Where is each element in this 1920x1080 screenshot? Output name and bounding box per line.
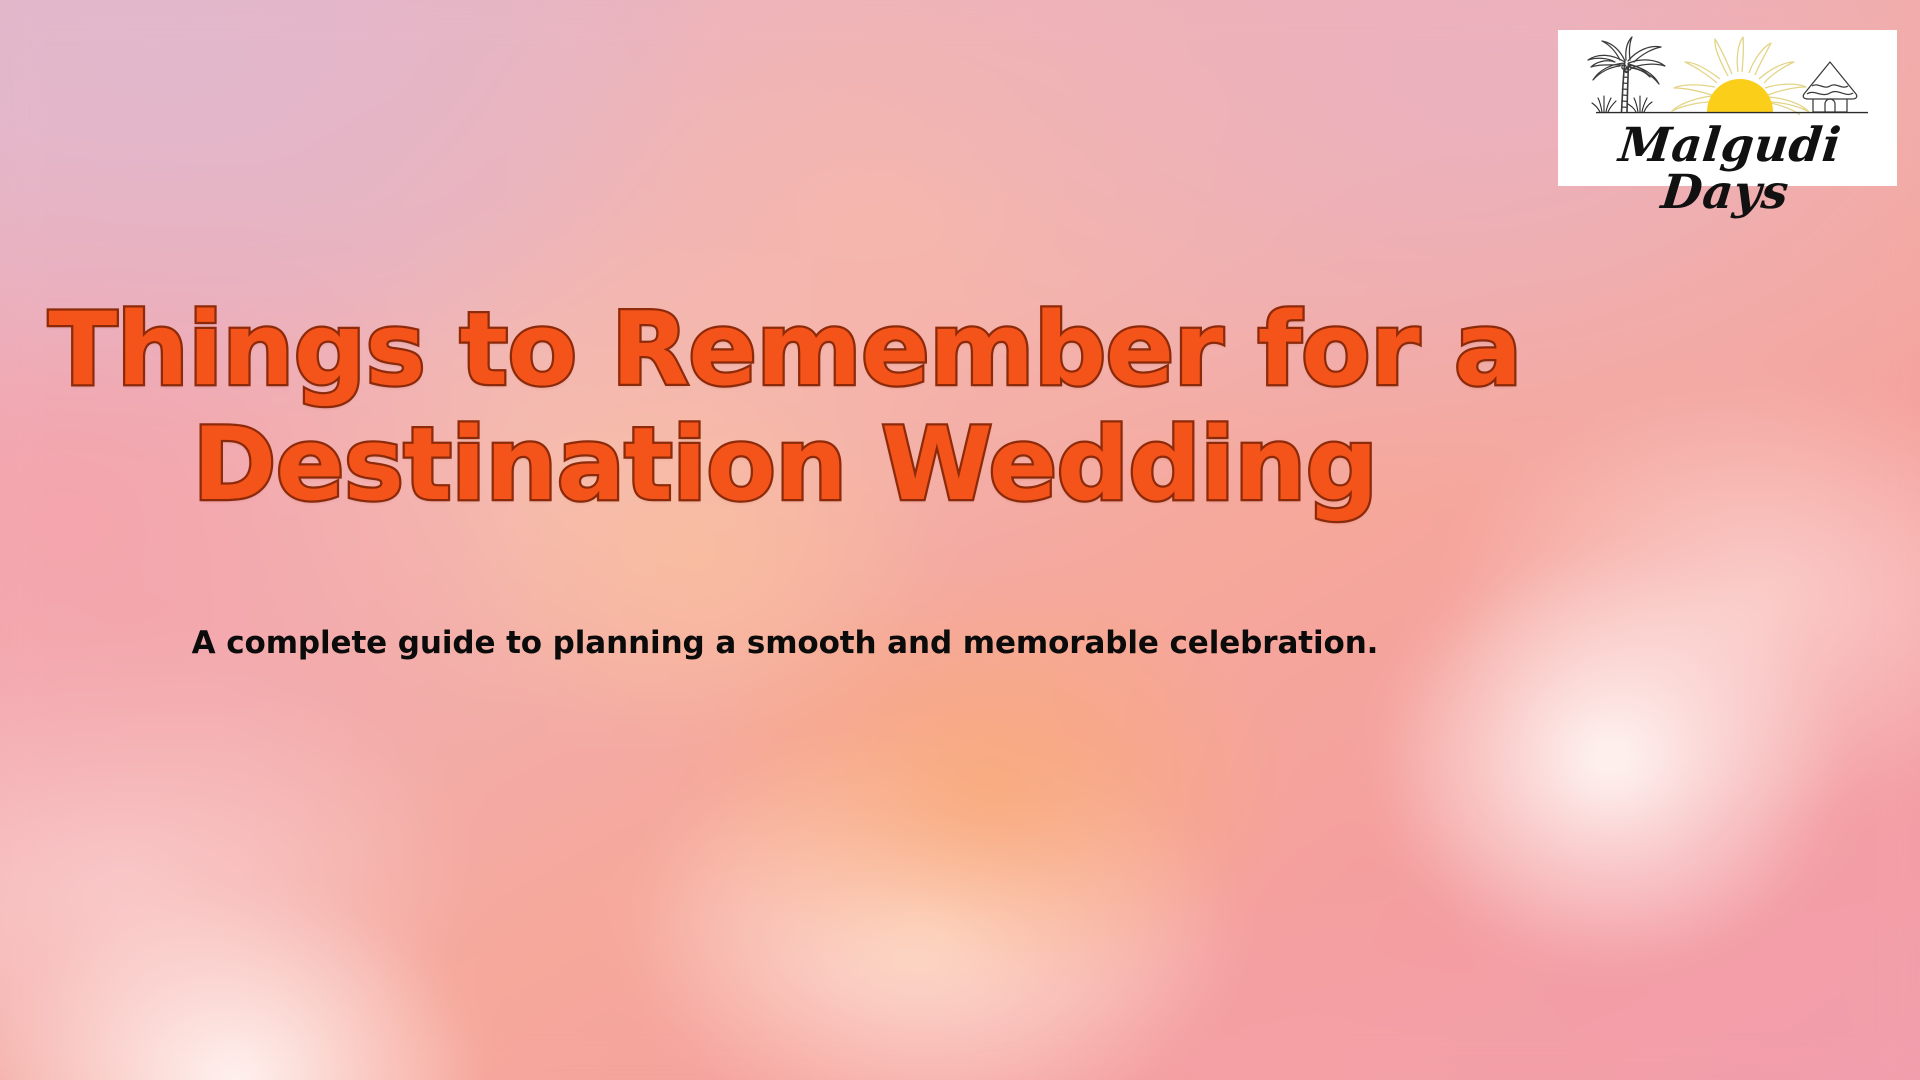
sun-dome-icon [1707, 79, 1773, 112]
logo-illustration [1568, 36, 1888, 128]
hut-icon [1803, 62, 1857, 112]
slide-subtitle: A complete guide to planning a smooth an… [192, 522, 1379, 661]
slide-canvas: Things to Remember for a Destination Wed… [0, 0, 1920, 1080]
brand-logo-card[interactable]: Malgudi Days [1558, 30, 1897, 186]
brand-wordmark: Malgudi Days [1553, 122, 1902, 216]
slide-text-block: Things to Remember for a Destination Wed… [0, 0, 1570, 1080]
page-title: Things to Remember for a Destination Wed… [48, 292, 1521, 522]
